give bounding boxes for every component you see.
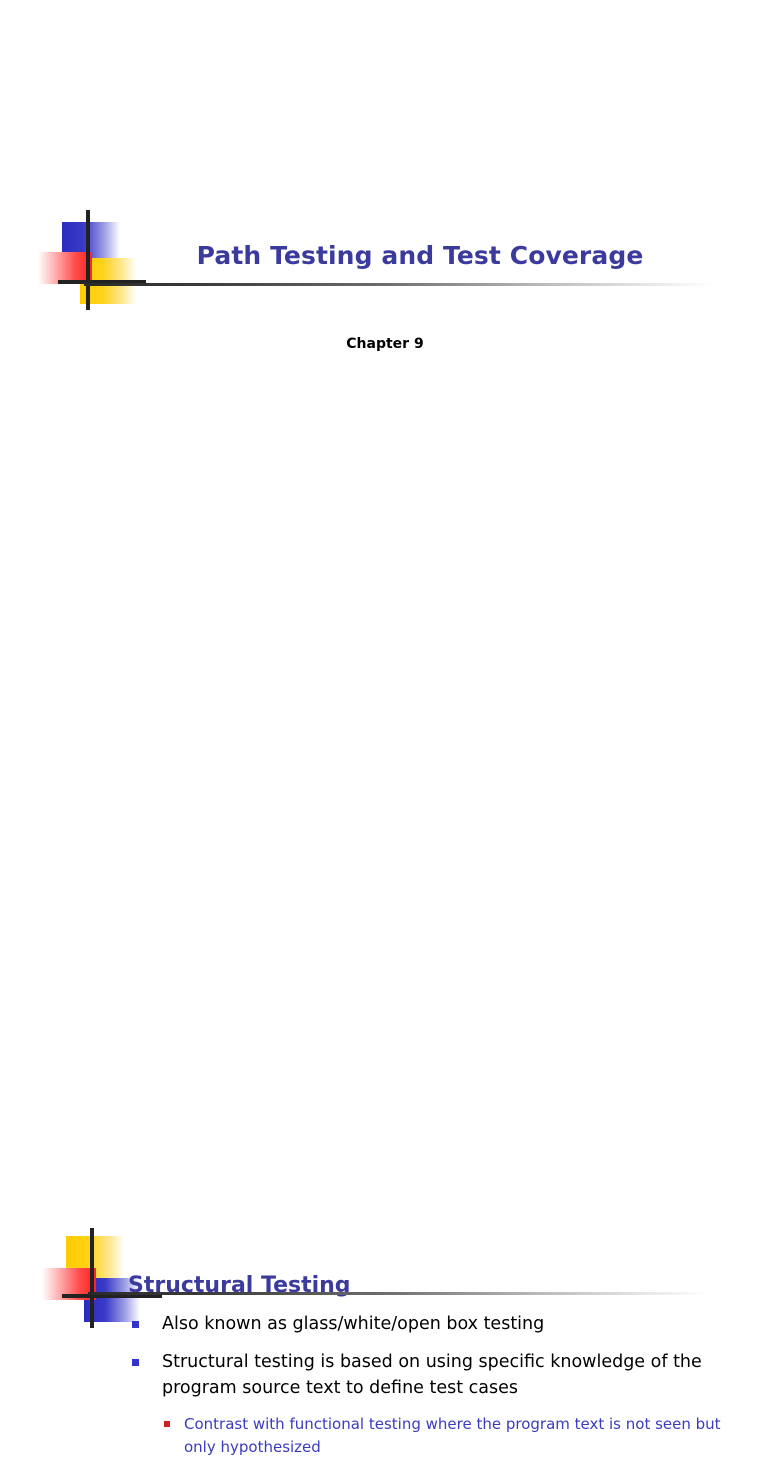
sub-bullet-text: Contrast with functional testing where t…: [184, 1413, 728, 1458]
sub-bullet-square-icon: [164, 1421, 170, 1427]
logo-vertical-bar-icon: [90, 1228, 94, 1328]
logo-vertical-bar-icon: [86, 210, 90, 310]
list-item: Also known as glass/white/open box testi…: [128, 1312, 728, 1337]
sub-bullet-list: Contrast with functional testing where t…: [162, 1413, 728, 1458]
bullet-text: Structural testing is based on using spe…: [162, 1350, 728, 1401]
heading-divider-rule: [88, 1292, 710, 1295]
handout-page: Path Testing and Test Coverage Chapter 9…: [0, 0, 768, 1024]
bullet-list: Also known as glass/white/open box testi…: [128, 1312, 728, 1471]
slide-decoration-logo: [36, 210, 146, 310]
title-slide: Path Testing and Test Coverage Chapter 9: [0, 0, 768, 600]
bullet-square-icon: [132, 1321, 139, 1328]
bullet-text: Also known as glass/white/open box testi…: [162, 1312, 728, 1337]
sub-list-item: Contrast with functional testing where t…: [162, 1413, 728, 1458]
slide-subtitle: Chapter 9: [140, 336, 630, 352]
list-item: Structural testing is based on using spe…: [128, 1350, 728, 1458]
structural-testing-slide: Structural Testing Also known as glass/w…: [0, 600, 768, 1024]
title-divider-rule: [84, 283, 714, 286]
slide-title: Path Testing and Test Coverage: [140, 241, 700, 270]
bullet-square-icon: [132, 1359, 139, 1366]
